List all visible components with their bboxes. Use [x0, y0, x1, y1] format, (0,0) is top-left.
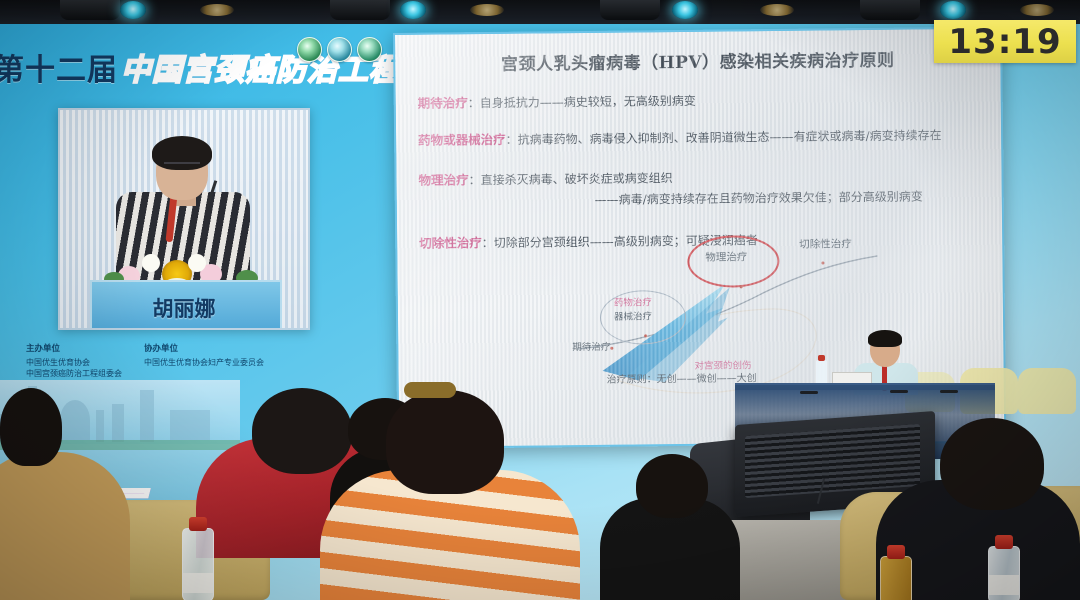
speaker-video-panel: 胡丽娜 [58, 108, 310, 330]
audience-member-torso [0, 452, 130, 600]
slide-line-2-sep: ： [506, 133, 518, 147]
diagram-label-device: 器械治疗 [614, 308, 652, 322]
bottle-cap-icon [887, 545, 905, 559]
monitor-grill [745, 424, 920, 498]
slide-line-3-body: 直接杀灭病毒、破坏炎症或病变组织 [481, 171, 673, 187]
table-microphone-icon [890, 390, 908, 393]
association-logo-3-icon [357, 37, 382, 62]
host-heading: 主办单位 [26, 342, 122, 354]
bottle-cap-icon [995, 535, 1013, 549]
organization-logos [297, 37, 382, 62]
glasses-icon [164, 162, 200, 172]
slide-line-3: 物理治疗：直接杀灭病毒、破坏炎症或病变组织 [418, 167, 672, 189]
speaker-nameplate: 胡丽娜 [90, 286, 278, 330]
drink-bottle [880, 556, 912, 600]
audience-member-head [386, 390, 504, 494]
slide-title: 宫颈人乳头瘤病毒（HPV）感染相关疾病治疗原则 [395, 45, 1000, 76]
slide-line-3-key: 物理治疗 [418, 172, 468, 188]
water-bottle [182, 528, 214, 600]
coorganizer-line-1: 中国优生优育协会妇产专业委员会 [144, 357, 264, 368]
water-bottle [988, 546, 1020, 600]
slide-line-1: 期待治疗：自身抵抗力——病史较短，无高级别病变 [418, 90, 696, 112]
coorganizer-heading: 协办单位 [144, 342, 264, 354]
slide-line-1-sep: ： [468, 96, 480, 110]
hair-clip-icon [404, 382, 456, 398]
conference-room-photo: 第十二届 中国宫颈癌防治工程 学术年会 胡丽娜 主 [0, 0, 1080, 600]
diagram-label-drug: 药物治疗 [614, 294, 652, 308]
slide-line-1-key: 期待治疗 [418, 95, 468, 111]
audience-member-head [636, 454, 708, 518]
bottle-label [183, 573, 213, 593]
ceiling-strip [0, 0, 1080, 26]
slide-line-5-key: 切除性治疗 [419, 235, 482, 251]
slide-line-2-key: 药物或器械治疗 [418, 132, 506, 148]
audience-member-head [0, 388, 62, 466]
clock-display: 13:19 [934, 20, 1076, 63]
slide-line-2: 药物或器械治疗：抗病毒药物、病毒侵入抑制剂、改善阴道微生态——有症状或病毒/病变… [418, 124, 942, 148]
host-line-2: 中国宫颈癌防治工程组委会 [26, 368, 122, 379]
panelist-hair [868, 330, 902, 347]
audience-member-head [252, 388, 352, 474]
slide-line-2-body: 抗病毒药物、病毒侵入抑制剂、改善阴道微生态——有症状或病毒/病变持续存在 [518, 128, 942, 146]
diagram-label-excisional: 切除性治疗 [799, 236, 852, 252]
slide-line-1-body: 自身抵抗力——病史较短，无高级别病变 [480, 94, 696, 110]
stage-light-icon [120, 1, 146, 19]
stage-light-icon [672, 1, 698, 19]
association-logo-1-icon [297, 37, 322, 62]
host-line-1: 中国优生优育协会 [26, 357, 122, 368]
stage-chair [1018, 368, 1076, 414]
banner-prefix: 第十二届 [0, 45, 118, 89]
stage-light-icon [940, 1, 966, 19]
slide-line-4-body: ——病毒/病变持续存在且药物治疗效果欠佳；部分高级别病变 [595, 189, 923, 206]
association-logo-2-icon [327, 37, 352, 62]
audience-member-head [940, 418, 1044, 510]
diagram-label-expectant: 期待治疗 [572, 339, 610, 353]
table-microphone-icon [940, 390, 958, 393]
table-microphone-icon [800, 391, 818, 394]
diagram-label-physical: 物理治疗 [705, 249, 747, 264]
bottle-cap-icon [189, 517, 207, 531]
slide-line-4: ——病毒/病变持续存在且药物治疗效果欠佳；部分高级别病变 [595, 187, 923, 207]
bottle-label [989, 575, 1019, 595]
stage-light-icon [400, 1, 426, 19]
slide-line-3-sep: ： [468, 173, 480, 187]
slide-line-5-sep: ： [482, 236, 494, 250]
